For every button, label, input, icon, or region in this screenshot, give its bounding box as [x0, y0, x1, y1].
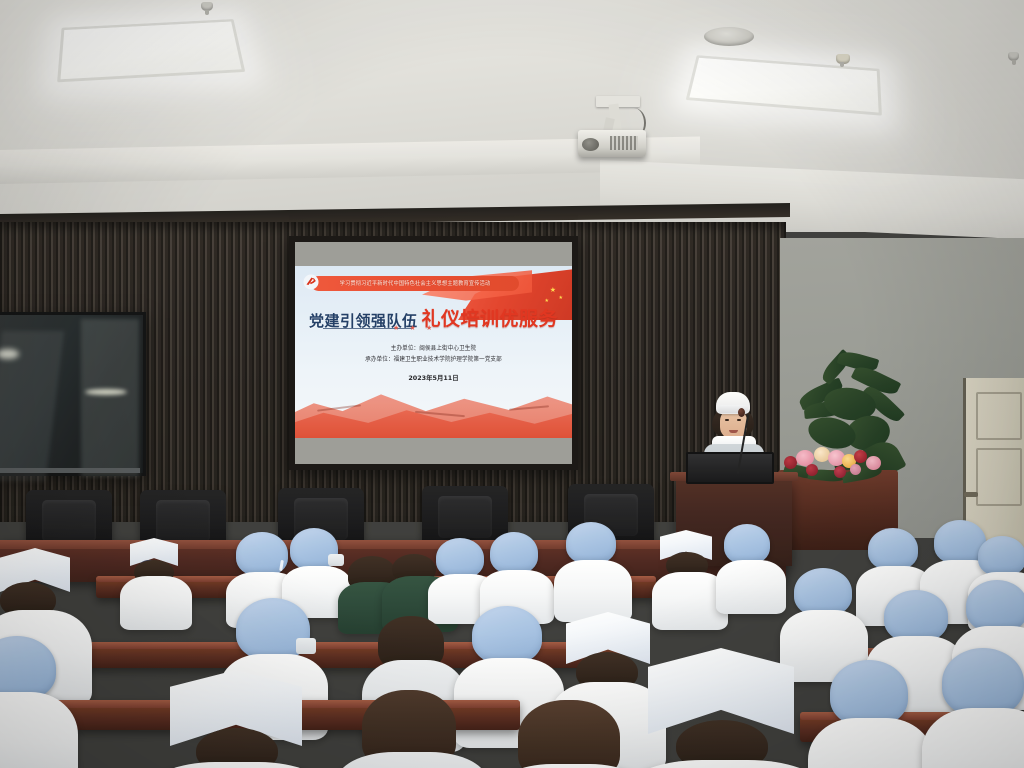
blue-surgical-cap — [794, 568, 852, 616]
speaker-eye — [725, 419, 729, 421]
projection-surface: ★ ★ ★ 学习贯彻习近平新时代中国特色社会主义思想主题教育宣传活动 党建引领强… — [295, 242, 572, 464]
display-reflection — [85, 389, 127, 395]
projector-lens-icon — [582, 138, 599, 151]
ceiling-projector — [566, 96, 660, 158]
letterbox-band-top — [295, 242, 572, 266]
face-mask — [296, 638, 316, 654]
speaker-eye — [737, 419, 741, 421]
sprinkler-icon — [201, 2, 213, 11]
face-mask — [328, 554, 344, 566]
flower-bloom — [866, 456, 881, 470]
wall-mounted-display[interactable] — [0, 312, 146, 476]
blue-surgical-cap — [472, 606, 542, 664]
white-coat — [554, 560, 632, 622]
blue-surgical-cap — [978, 536, 1024, 576]
display-bottom-bezel — [0, 468, 140, 473]
sprinkler-icon — [836, 54, 850, 64]
flower-bloom — [806, 464, 818, 476]
door-panel-upper — [976, 392, 1022, 440]
microphone-icon — [738, 408, 745, 417]
projector-vent — [610, 136, 638, 150]
audience-head — [518, 700, 620, 768]
presentation-slide: ★ ★ ★ 学习贯彻习近平新时代中国特色社会主义思想主题教育宣传活动 党建引领强… — [295, 266, 572, 438]
auditorium-scene: ★ ★ ★ 学习贯彻习近平新时代中国特色社会主义思想主题教育宣传活动 党建引领强… — [0, 0, 1024, 768]
blue-surgical-cap — [436, 538, 484, 578]
flag-star-icon: ★ — [550, 288, 556, 293]
blue-surgical-cap — [966, 580, 1024, 632]
slide-date: 2023年5月11日 — [295, 373, 572, 382]
podium-monitor[interactable] — [686, 452, 774, 484]
flag-star-icon: ★ — [559, 296, 563, 301]
slide-coorganizer-line: 承办单位：福建卫生职业技术学院护理学院第一党支部 — [295, 355, 572, 364]
slide-organizer-line: 主办单位：闽侯县上街中心卫生院 — [295, 344, 572, 353]
slide-banner-text: 学习贯彻习近平新时代中国特色社会主义思想主题教育宣传活动 — [340, 280, 491, 287]
blue-surgical-cap — [942, 648, 1024, 716]
white-coat — [146, 762, 328, 768]
flower-bloom — [834, 466, 846, 478]
display-glare — [81, 319, 139, 477]
flower-bloom — [854, 450, 867, 463]
blue-surgical-cap — [724, 524, 770, 564]
sprinkler-icon — [1008, 52, 1019, 61]
blue-surgical-cap — [566, 522, 616, 564]
letterbox-band-bottom — [295, 438, 572, 464]
door-handle-icon[interactable] — [964, 492, 978, 497]
blue-surgical-cap — [490, 532, 538, 574]
flower-arrangement — [782, 444, 894, 484]
slide-banner: 学习贯彻习近平新时代中国特色社会主义思想主题教育宣传活动 — [311, 276, 519, 291]
ceiling-speaker — [704, 27, 754, 46]
white-coat — [120, 576, 192, 630]
led-panel-light-left — [57, 19, 245, 82]
blue-surgical-cap — [868, 528, 918, 570]
blue-surgical-cap — [884, 590, 948, 642]
slide-stars: ★ ★ ★ — [393, 324, 436, 332]
slide-title-secondary: 礼仪培训优服务 — [422, 304, 559, 331]
white-coat — [336, 752, 488, 768]
blue-surgical-cap — [830, 660, 908, 726]
flower-bloom — [850, 464, 861, 475]
party-emblem-icon — [303, 274, 319, 290]
projection-screen[interactable]: ★ ★ ★ 学习贯彻习近平新时代中国特色社会主义思想主题教育宣传活动 党建引领强… — [289, 236, 578, 470]
door-panel-lower — [976, 448, 1022, 506]
white-coat — [716, 560, 786, 614]
